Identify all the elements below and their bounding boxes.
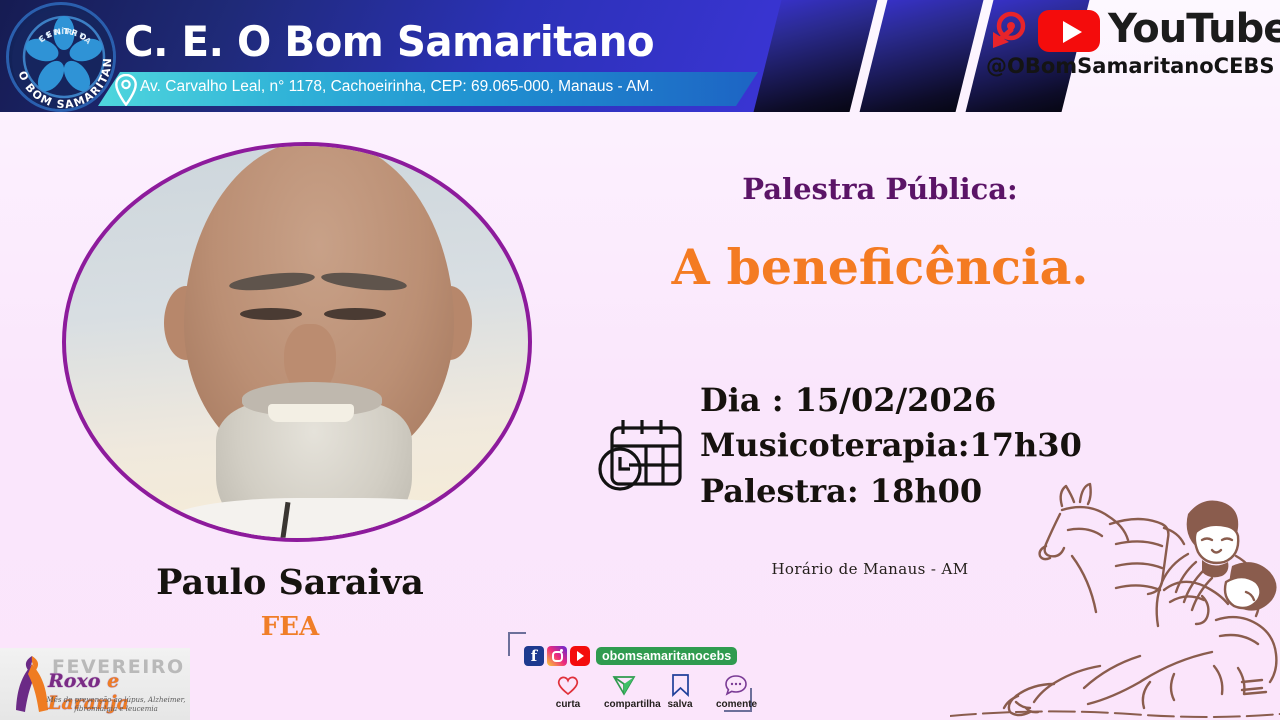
play-triangle-icon [1063,21,1082,43]
youtube-play-badge[interactable] [1038,10,1100,52]
social-handle-row: f obomsamaritanocebs [524,646,737,666]
bookmark-icon [660,672,700,698]
portrait-eye-left [240,308,302,320]
campaign-script-purple: Roxo [48,670,100,692]
address-text: Av. Carvalho Leal, n° 1178, Cachoeirinha… [140,78,654,96]
speaker-photo-frame [62,142,532,542]
youtube-wordmark: YouTube [1108,6,1280,52]
portrait-eye-right [324,308,386,320]
portrait-smile [268,404,354,422]
engagement-label: compartilha [604,699,644,710]
schedule-line-date: Dia : 15/02/2026 [700,378,1082,423]
header-banner: C. E. O Bom Samaritano Av. Carvalho Leal… [0,0,1280,112]
send-icon [604,672,644,698]
campaign-logo: FEVEREIRO Roxo e Laranja Mês de prevençã… [0,648,190,720]
engagement-salva[interactable]: salva [660,672,700,710]
location-pin-icon [113,74,139,106]
comment-icon [716,672,756,698]
page-title: C. E. O Bom Samaritano [124,17,654,66]
facebook-icon[interactable]: f [524,646,544,666]
poster-canvas: C. E. O Bom Samaritano Av. Carvalho Leal… [0,0,1280,720]
engagement-label: comente [716,699,756,710]
heart-icon [548,672,588,698]
social-block: f obomsamaritanocebs curta compartilha [508,632,750,716]
click-arrow-icon [985,8,1029,52]
youtube-icon[interactable] [570,646,590,666]
lecture-title: A beneficência. [600,238,1160,296]
header-stripe-2 [858,0,986,112]
campaign-subtitle: Mês de prevenção ao lúpus, Alzheimer, fi… [46,696,186,715]
calendar-clock-icon [596,414,688,498]
speaker-name: Paulo Saraiva [0,562,580,603]
engagement-curta[interactable]: curta [548,672,588,710]
engagement-label: curta [548,699,588,710]
campaign-script-conj: e [107,670,119,692]
speaker-credential: FEA [0,612,580,642]
youtube-handle[interactable]: @OBomSamaritanoCEBS [986,54,1275,78]
engagement-compartilha[interactable]: compartilha [604,672,644,710]
portrait-shirt [166,498,496,542]
schedule-line-musicoterapia: Musicoterapia:17h30 [700,423,1082,468]
social-handle[interactable]: obomsamaritanocebs [596,647,737,665]
organization-emblem: CENTRO ESPÍRITA O BOM SAMARITANO [6,2,116,112]
engagement-label: salva [660,699,700,710]
good-samaritan-illustration [950,470,1280,720]
engagement-comente[interactable]: comente [716,672,756,710]
instagram-icon[interactable] [547,646,567,666]
engagement-row: curta compartilha salva comente [548,672,756,710]
speaker-photo [62,142,532,542]
lecture-kicker: Palestra Pública: [600,172,1160,206]
